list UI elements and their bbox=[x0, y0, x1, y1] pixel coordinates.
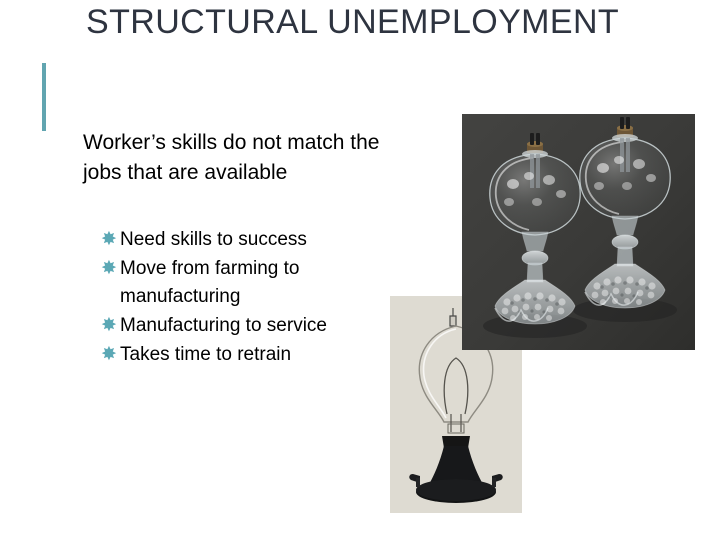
presentation-slide: STRUCTURAL UNEMPLOYMENT Worker’s skills … bbox=[0, 0, 720, 540]
list-item: ✸ Manufacturing to service bbox=[101, 312, 421, 340]
oil-lamps-illustration bbox=[462, 114, 695, 350]
bullet-list: ✸ Need skills to success ✸ Move from far… bbox=[101, 226, 421, 370]
page-title: STRUCTURAL UNEMPLOYMENT bbox=[86, 2, 686, 42]
star-bullet-icon: ✸ bbox=[101, 341, 119, 369]
list-item: ✸ Need skills to success bbox=[101, 226, 421, 254]
star-bullet-icon: ✸ bbox=[101, 312, 119, 340]
list-item: ✸ Move from farming to manufacturing bbox=[101, 255, 421, 311]
list-item-label: Move from farming to manufacturing bbox=[119, 255, 421, 311]
list-item-label: Need skills to success bbox=[119, 226, 421, 254]
list-item-label: Takes time to retrain bbox=[119, 341, 421, 369]
list-item-label: Manufacturing to service bbox=[119, 312, 421, 340]
list-item: ✸ Takes time to retrain bbox=[101, 341, 421, 369]
oil-lamps-photo bbox=[462, 114, 695, 350]
body-text: Worker’s skills do not match the jobs th… bbox=[83, 128, 389, 188]
star-bullet-icon: ✸ bbox=[101, 255, 119, 283]
accent-bar bbox=[42, 63, 46, 131]
star-bullet-icon: ✸ bbox=[101, 226, 119, 254]
